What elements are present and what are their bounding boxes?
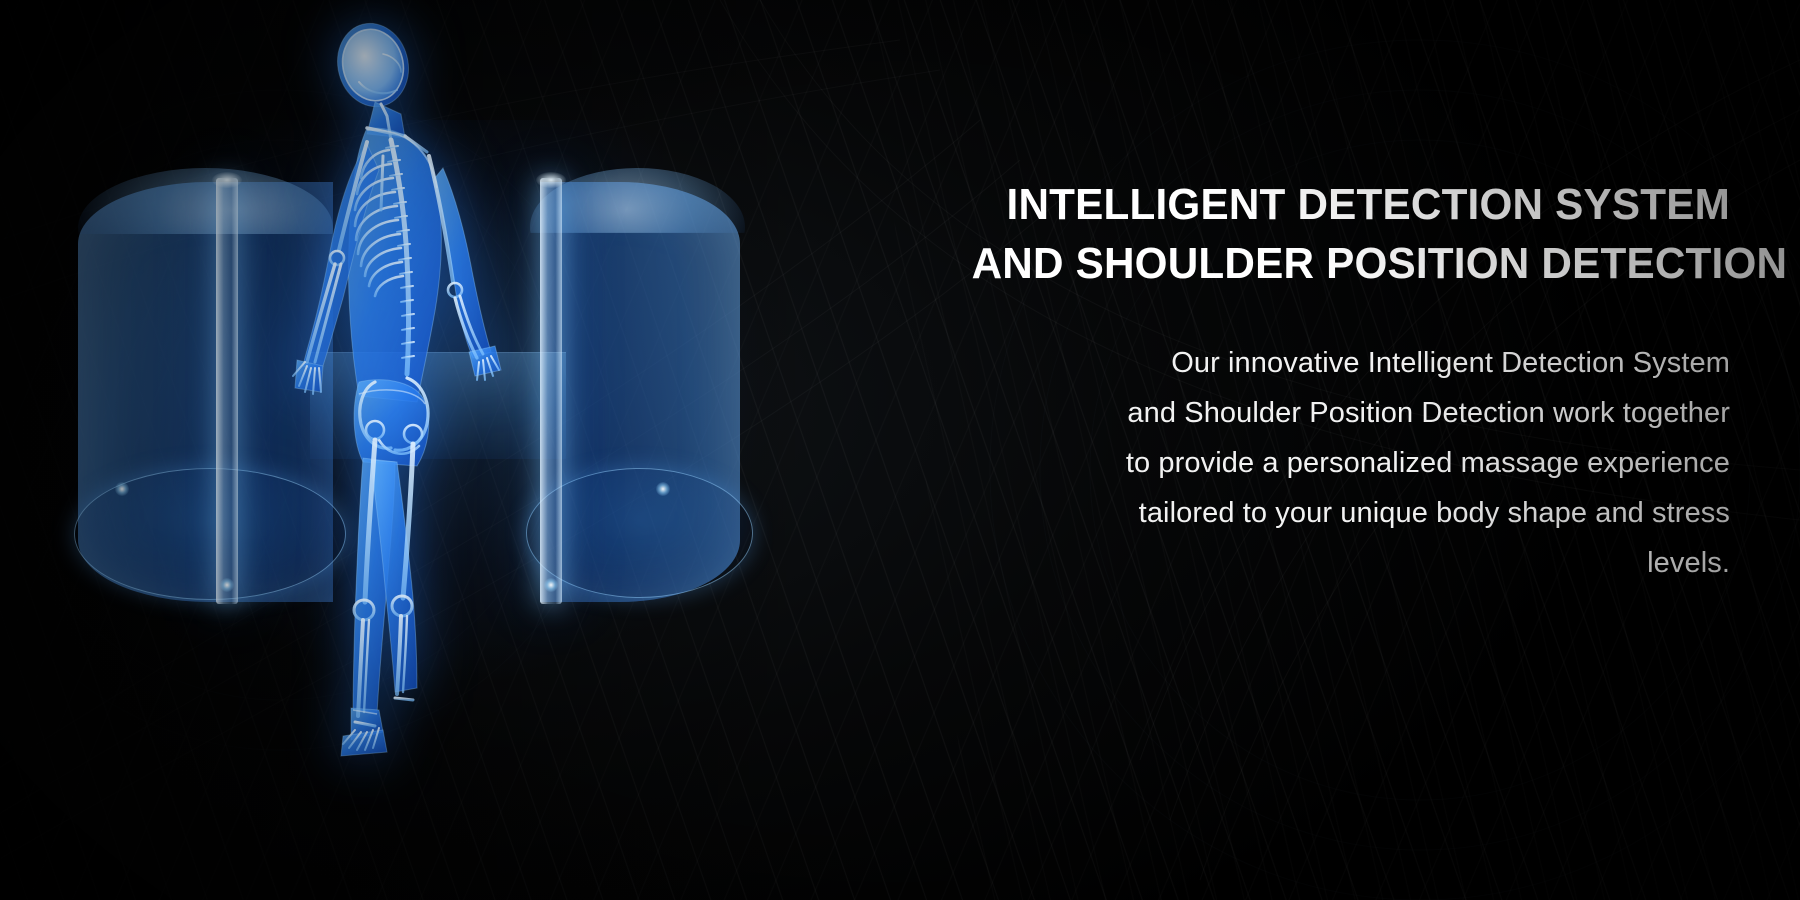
body-line-1: Our innovative Intelligent Detection Sys… <box>940 338 1730 388</box>
body-description: Our innovative Intelligent Detection Sys… <box>940 338 1730 588</box>
body-line-4: tailored to your unique body shape and s… <box>940 488 1730 538</box>
page-title: INTELLIGENT DETECTION SYSTEM AND SHOULDE… <box>972 175 1730 294</box>
xray-human-body-figure <box>255 10 555 770</box>
headline-line-2: AND SHOULDER POSITION DETECTION <box>972 234 1730 293</box>
scanner-glass-door-left <box>216 178 238 604</box>
headline-line-1: INTELLIGENT DETECTION SYSTEM <box>972 175 1730 234</box>
promo-banner: INTELLIGENT DETECTION SYSTEM AND SHOULDE… <box>0 0 1800 900</box>
scanner-door-left-base-glow <box>220 578 234 592</box>
body-line-2: and Shoulder Position Detection work tog… <box>940 388 1730 438</box>
body-line-5: levels. <box>940 538 1730 588</box>
scanner-door-left-top-highlight <box>212 172 242 188</box>
banner-text-column: INTELLIGENT DETECTION SYSTEM AND SHOULDE… <box>940 175 1730 588</box>
scanner-ring-left-glow <box>115 482 129 496</box>
scanner-ring-right-glow <box>656 482 670 496</box>
body-line-3: to provide a personalized massage experi… <box>940 438 1730 488</box>
scanner-artwork <box>60 0 760 900</box>
